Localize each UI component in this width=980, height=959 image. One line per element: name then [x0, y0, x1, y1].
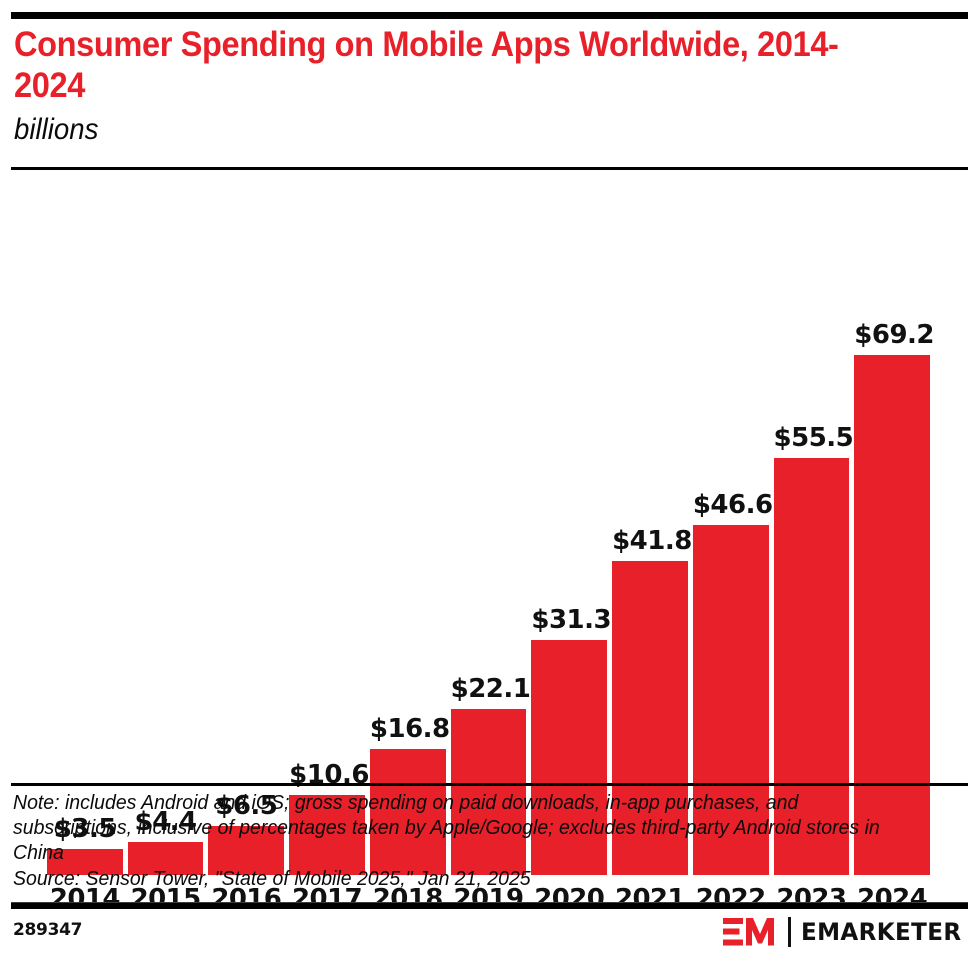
- plot-area: $3.52014$4.42015$6.52016$10.62017$16.820…: [0, 175, 980, 775]
- bar-value-label: $46.6: [693, 491, 769, 519]
- chart-notes: Note: includes Android and iOS; gross sp…: [13, 790, 963, 891]
- chart-footer: 289347 EMARKETER: [0, 915, 980, 959]
- top-rule: [11, 12, 968, 19]
- bar-value-label: $55.5: [774, 424, 850, 452]
- em-monogram-icon: [723, 917, 779, 947]
- note-separator-rule: [11, 783, 968, 786]
- brand-wordmark: EMARKETER: [801, 919, 961, 945]
- note-text: Note: includes Android and iOS; gross sp…: [13, 790, 916, 865]
- chart-subtitle: billions: [14, 114, 888, 146]
- bar-value-label: $41.8: [612, 527, 688, 555]
- source-text: Source: Sensor Tower, "State of Mobile 2…: [13, 866, 916, 891]
- bar-value-label: $16.8: [370, 715, 446, 743]
- chart-id: 289347: [13, 920, 82, 940]
- emarketer-logo: EMARKETER: [723, 915, 968, 949]
- chart-page: Consumer Spending on Mobile Apps Worldwi…: [0, 0, 980, 959]
- bar-value-label: $69.2: [854, 321, 930, 349]
- bar-value-label: $22.1: [451, 675, 527, 703]
- bar-value-label: $31.3: [531, 606, 607, 634]
- page-title: Consumer Spending on Mobile Apps Worldwi…: [14, 24, 898, 106]
- footer-separator-rule: [11, 903, 968, 909]
- logo-divider: [788, 917, 791, 947]
- chart-header: Consumer Spending on Mobile Apps Worldwi…: [14, 24, 964, 146]
